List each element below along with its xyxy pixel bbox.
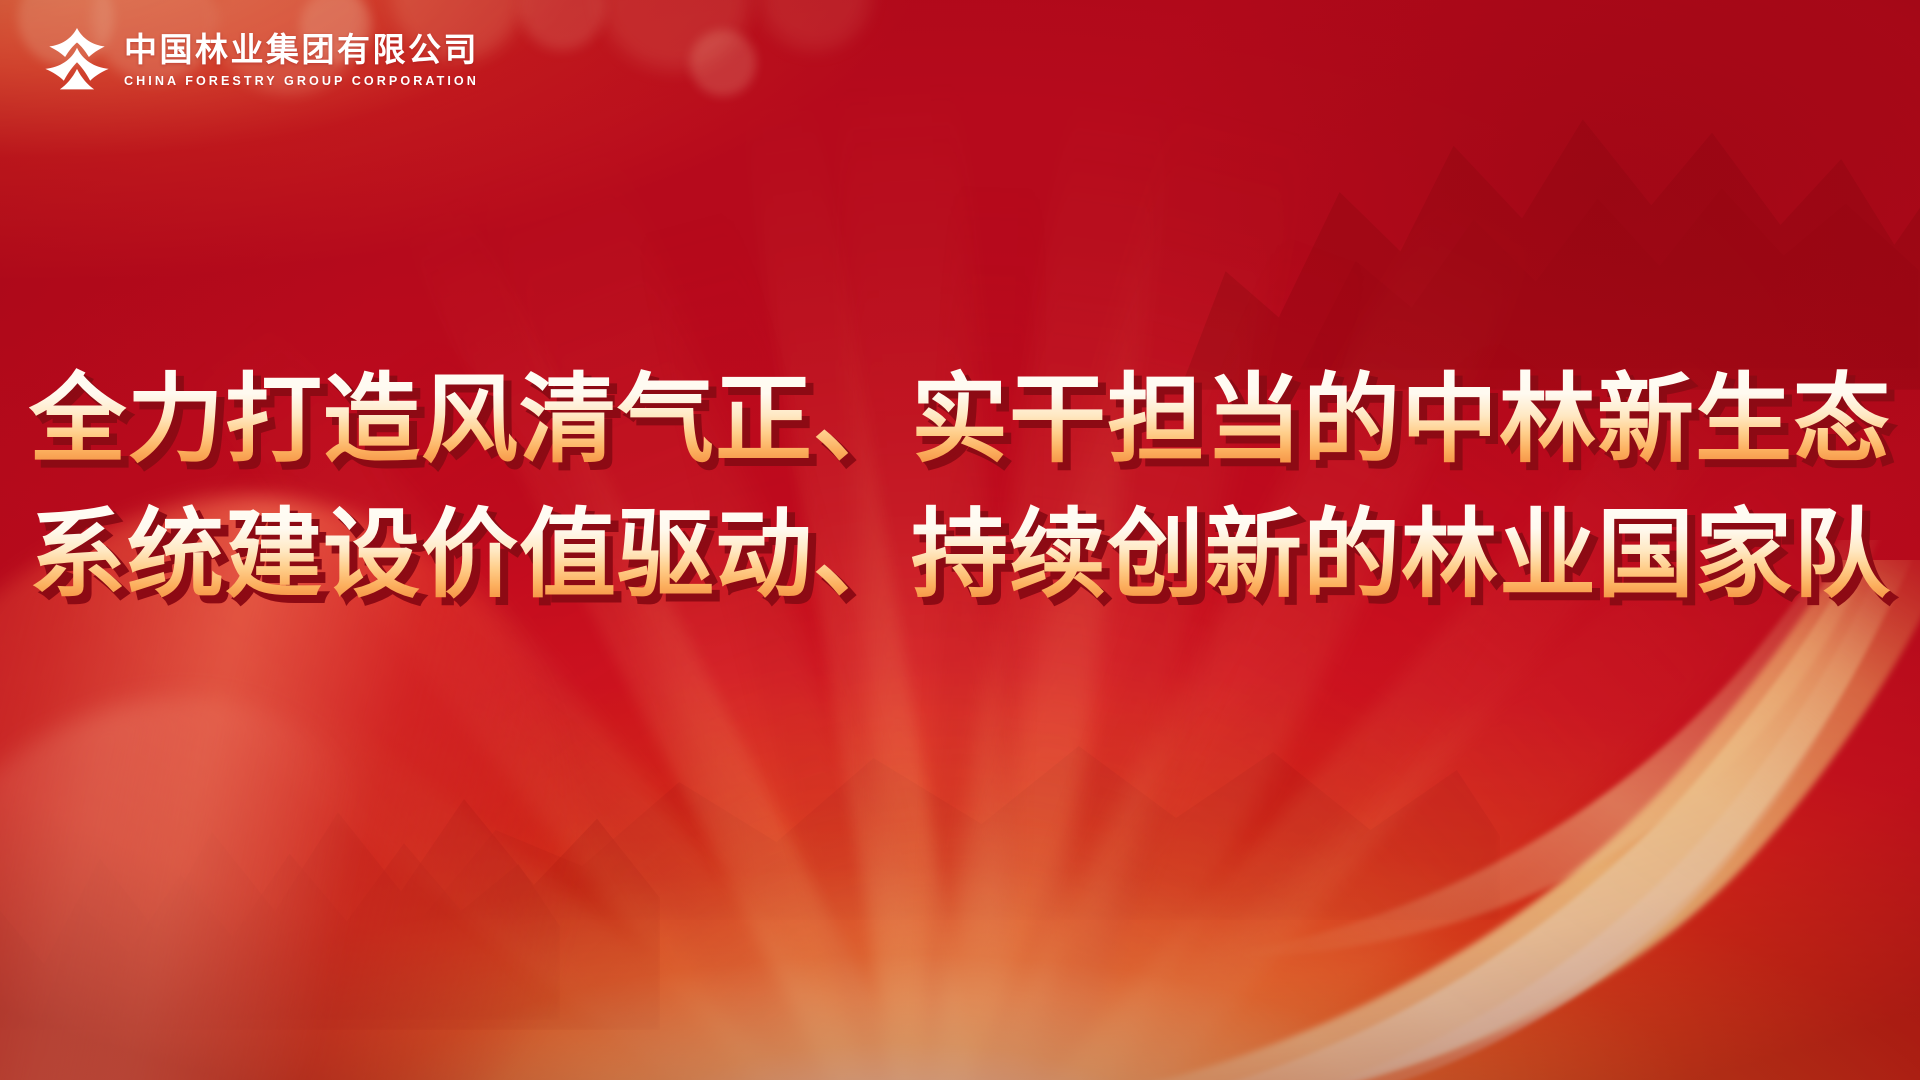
headline-line-2: 系统建设价值驱动、持续创新的林业国家队 系统建设价值驱动、持续创新的林业国家队 (0, 487, 1920, 622)
logo-company-name-cn: 中国林业集团有限公司 (124, 33, 479, 68)
company-logo[interactable]: 中国林业集团有限公司 CHINA FORESTRY GROUP CORPORAT… (44, 28, 479, 90)
pagoda-chevron-logo-icon (44, 28, 110, 90)
headline-line-2-text: 系统建设价值驱动、持续创新的林业国家队 (29, 500, 1891, 609)
logo-company-name-en: CHINA FORESTRY GROUP CORPORATION (124, 75, 479, 88)
banner-canvas: 中国林业集团有限公司 CHINA FORESTRY GROUP CORPORAT… (0, 0, 1920, 1080)
headline-line-1: 全力打造风清气正、实干担当的中林新生态 全力打造风清气正、实干担当的中林新生态 (0, 352, 1920, 487)
headline-line-1-text: 全力打造风清气正、实干担当的中林新生态 (29, 365, 1891, 474)
headline-block: 全力打造风清气正、实干担当的中林新生态 全力打造风清气正、实干担当的中林新生态 … (0, 352, 1920, 622)
